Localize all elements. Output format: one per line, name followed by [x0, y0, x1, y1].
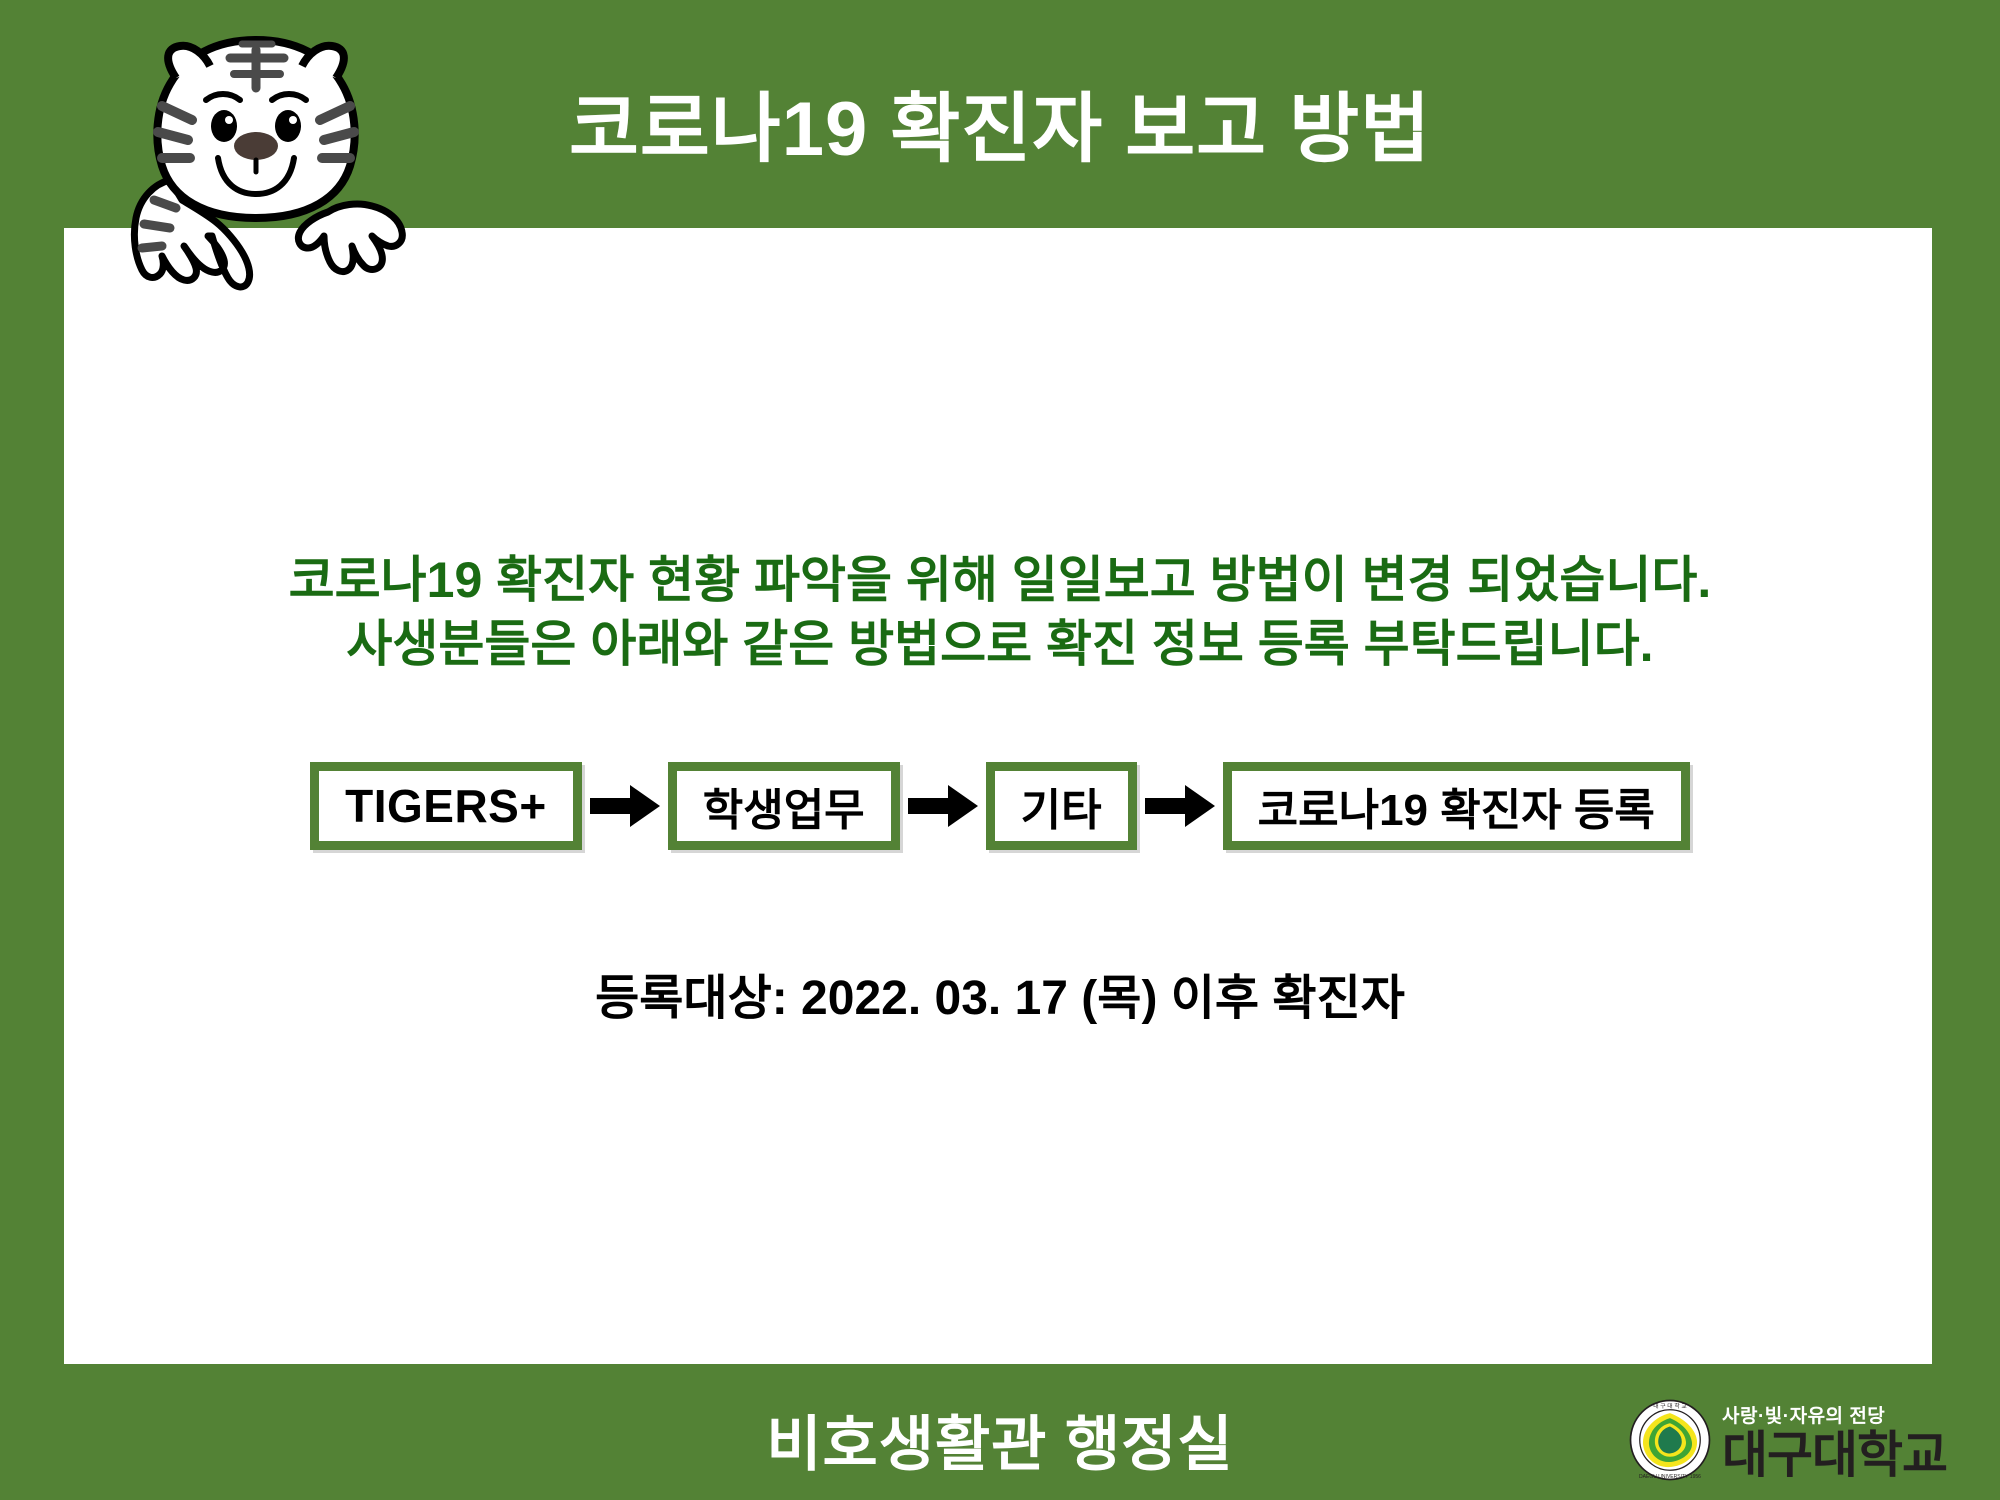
daegu-university-emblem-icon: 대 구 대 학 교 DAEGU UNIVERSITY 1956 [1628, 1398, 1712, 1482]
flow-step-student-affairs[interactable]: 학생업무 [668, 762, 900, 850]
registration-target-line: 등록대상: 2022. 03. 17 (목) 이후 확진자 [0, 958, 2000, 1028]
arrow-right-icon [900, 762, 986, 850]
svg-text:대 구 대 학 교: 대 구 대 학 교 [1653, 1402, 1687, 1410]
intro-line-1: 코로나19 확진자 현황 파악을 위해 일일보고 방법이 변경 되었습니다. [0, 548, 2000, 612]
flow-step-tigers-plus[interactable]: TIGERS+ [310, 762, 582, 850]
arrow-right-icon [1137, 762, 1223, 850]
page-title: 코로나19 확진자 보고 방법 [0, 92, 2000, 168]
intro-line-2: 사생분들은 아래와 같은 방법으로 확진 정보 등록 부탁드립니다. [0, 612, 2000, 676]
arrow-right-icon [582, 762, 668, 850]
flow-step-covid-case-registration[interactable]: 코로나19 확진자 등록 [1223, 762, 1690, 850]
intro-paragraph: 코로나19 확진자 현황 파악을 위해 일일보고 방법이 변경 되었습니다. 사… [0, 548, 2000, 676]
university-brand: 대 구 대 학 교 DAEGU UNIVERSITY 1956 사랑·빛·자유의… [1628, 1374, 1938, 1484]
brand-text-block: 사랑·빛·자유의 전당 대구대학교 [1722, 1407, 1947, 1484]
brand-name: 대구대학교 [1722, 1430, 1947, 1480]
svg-text:DAEGU UNIVERSITY 1956: DAEGU UNIVERSITY 1956 [1639, 1474, 1701, 1480]
flow-step-etc[interactable]: 기타 [986, 762, 1137, 850]
report-flow-diagram: TIGERS+ 학생업무 기타 코로나19 확진자 등록 [0, 762, 2000, 850]
brand-tagline: 사랑·빛·자유의 전당 [1722, 1407, 1947, 1428]
poster-root: 코로나19 확진자 보고 방법 [0, 0, 2000, 1500]
